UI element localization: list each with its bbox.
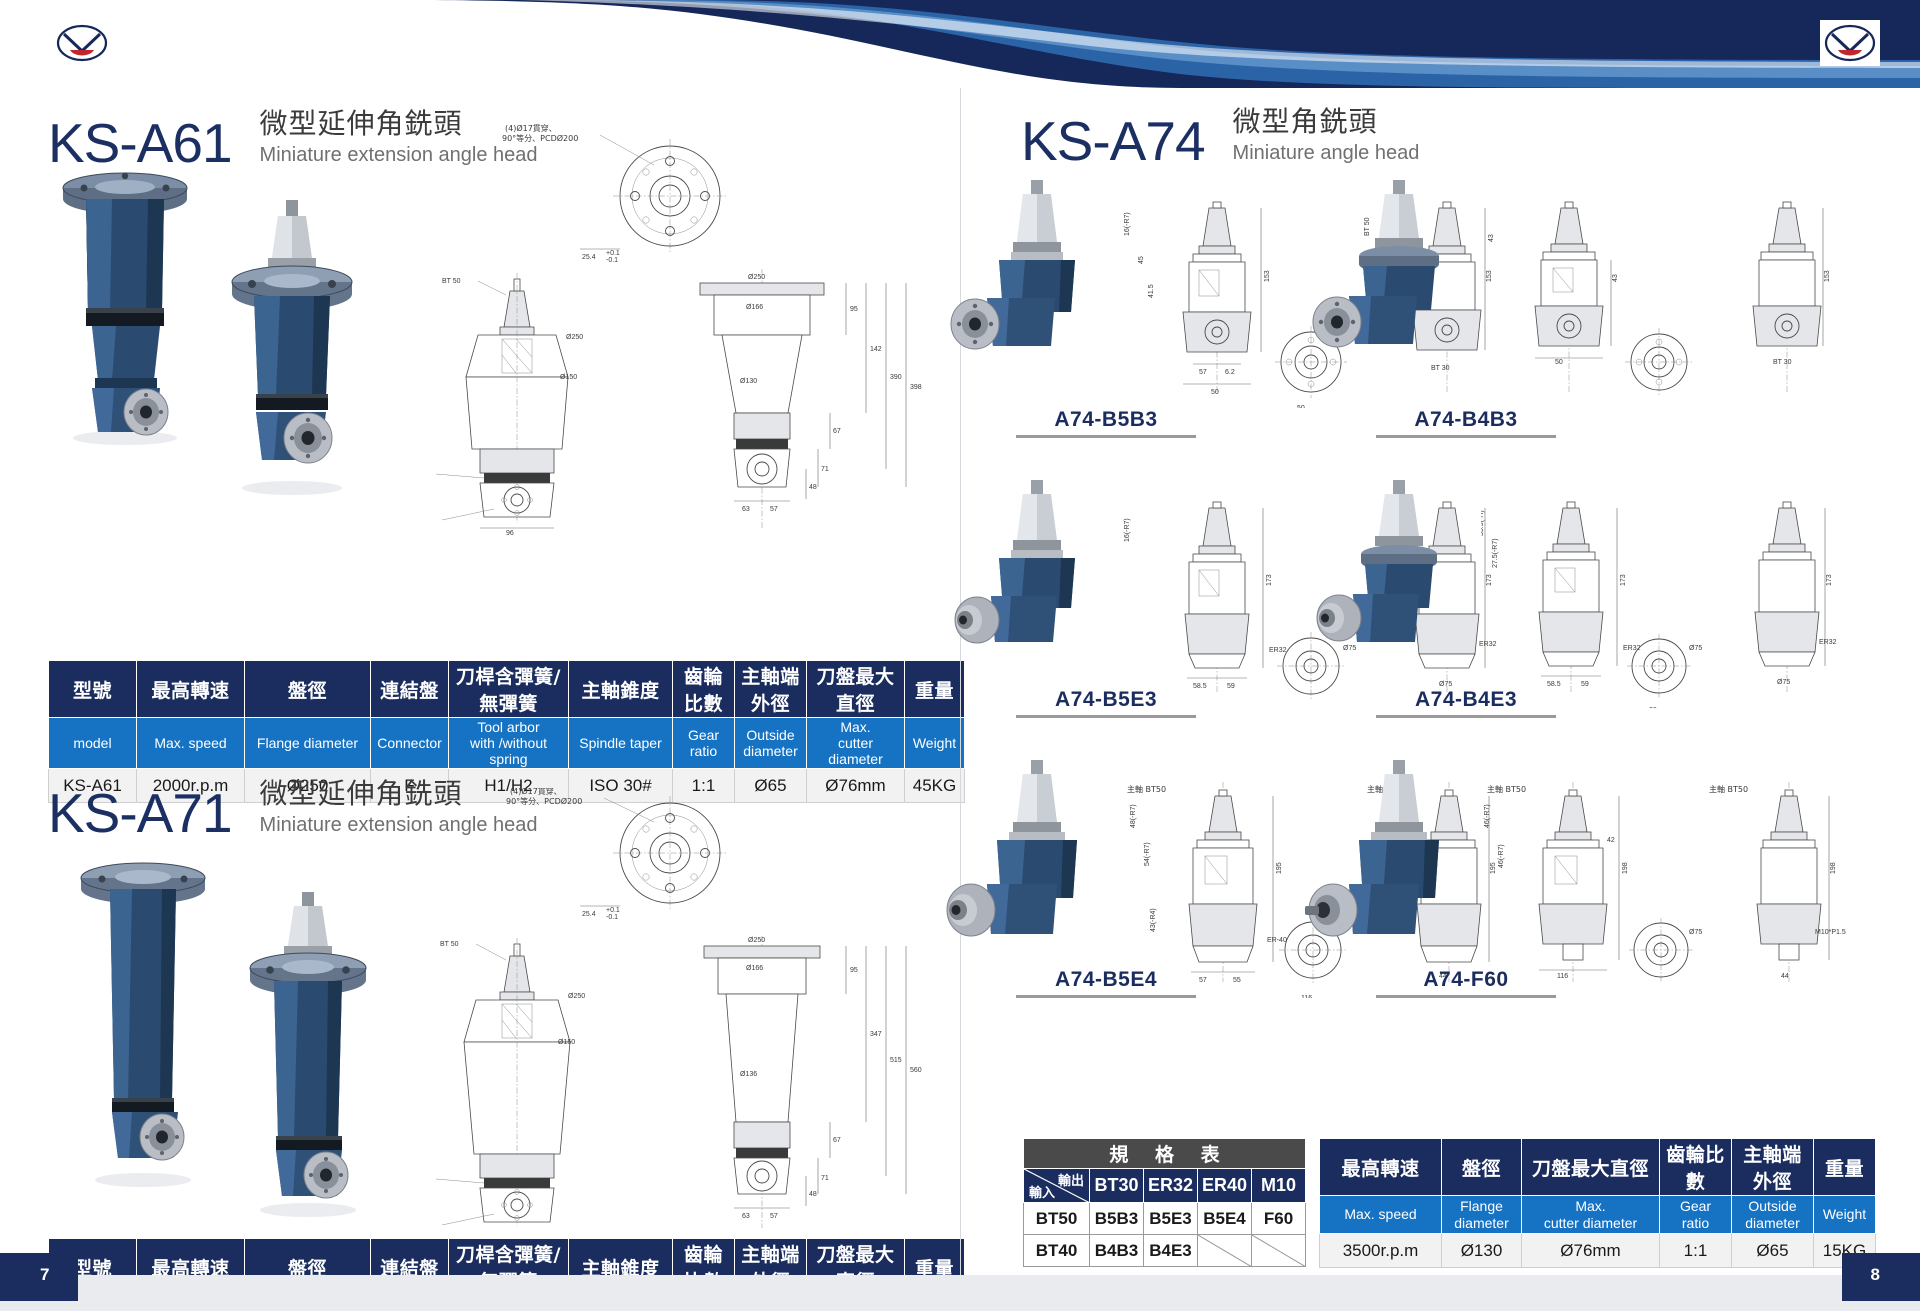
svg-text:Ø150: Ø150 <box>560 374 577 381</box>
matrix-title: 規 格 表 <box>1024 1139 1306 1169</box>
th-en-model: model <box>49 718 137 769</box>
svg-text:96: 96 <box>506 530 514 537</box>
th-en-weight: Weight <box>1814 1196 1876 1234</box>
th-en-gear-ratio: Gear ratio <box>1660 1196 1732 1234</box>
svg-text:173: 173 <box>1826 574 1833 586</box>
product-code: KS-A71 <box>48 786 232 841</box>
svg-text:63: 63 <box>742 506 750 513</box>
svg-text:46(-R7): 46(-R7) <box>1498 844 1505 868</box>
svg-text:198: 198 <box>1830 862 1837 874</box>
svg-text:48: 48 <box>809 1191 817 1198</box>
svg-text:BT 50: BT 50 <box>442 278 461 285</box>
svg-text:560: 560 <box>910 1067 922 1074</box>
product-name-cn: 微型角銑頭 <box>1233 106 1420 138</box>
svg-text:57: 57 <box>770 1213 778 1220</box>
svg-text:-0.1: -0.1 <box>606 914 618 921</box>
right-page: KS-A74 微型角銑頭 Miniature angle head <box>960 88 1920 1311</box>
variant-label-a74-f60: A74-F60 <box>1281 968 1651 998</box>
matrix-header-row: 輸出 輸入 BT30 ER32 ER40 M10 <box>1024 1169 1306 1203</box>
page-number-right: 8 <box>1871 1265 1880 1285</box>
svg-text:43: 43 <box>1488 234 1495 242</box>
svg-text:48(-R7): 48(-R7) <box>1130 804 1137 828</box>
th-cn-model: 型號 <box>49 661 137 718</box>
footer-page-block-right <box>1842 1253 1920 1301</box>
th-cn-flange-diameter: 盤徑 <box>1442 1139 1522 1196</box>
svg-text:57: 57 <box>1199 369 1207 376</box>
svg-text:+0.1: +0.1 <box>606 250 620 257</box>
caption-rule <box>1376 715 1556 718</box>
variant-drawing-a74-f60-side: 主軸 BT50 198 M10*P1.5 44 <box>1701 778 1891 998</box>
th-en-max-speed: Max. speed <box>137 718 245 769</box>
caption-rule <box>1016 435 1196 438</box>
svg-text:42: 42 <box>1607 837 1615 844</box>
footer-bar <box>0 1275 1920 1311</box>
matrix-axis-input: 輸入 <box>1029 1182 1055 1201</box>
svg-text:16(-R7): 16(-R7) <box>1124 518 1131 542</box>
svg-text:44: 44 <box>1781 973 1789 980</box>
caption-rule <box>1016 995 1196 998</box>
svg-text:57: 57 <box>770 506 778 513</box>
svg-text:50: 50 <box>1555 359 1563 366</box>
svg-text:45: 45 <box>1138 256 1145 264</box>
svg-text:347: 347 <box>870 1031 882 1038</box>
variant-drawing-a74-b4e3-side: 173 ER32 Ø75 <box>1701 498 1881 708</box>
matrix-row-input: BT50 <box>1024 1203 1090 1235</box>
matrix-axis-corner: 輸出 輸入 <box>1024 1169 1090 1203</box>
spec-matrix-table: 規 格 表 輸出 輸入 BT30 ER32 ER40 M10 BT50 B5B3 <box>1023 1138 1306 1267</box>
svg-text:41.5: 41.5 <box>1148 284 1155 298</box>
th-cn-weight: 重量 <box>1814 1139 1876 1196</box>
variant-label-a74-b5b3: A74-B5B3 <box>921 408 1291 438</box>
product-code: KS-A74 <box>1021 114 1205 169</box>
th-en-max-speed: Max. speed <box>1320 1196 1442 1234</box>
svg-text:95: 95 <box>850 306 858 313</box>
svg-text:Ø250: Ø250 <box>566 334 583 341</box>
caption-rule <box>1016 715 1196 718</box>
svg-text:48: 48 <box>809 484 817 491</box>
th-cn-outside-diameter: 主軸端外徑 <box>1732 1139 1814 1196</box>
svg-text:59: 59 <box>1581 681 1589 688</box>
variant-label-a74-b4b3: A74-B4B3 <box>1281 408 1651 438</box>
th-cn-spindle-taper: 主軸錐度 <box>569 661 673 718</box>
svg-text:Ø250: Ø250 <box>748 937 765 944</box>
th-en-flange-diameter: Flange diameter <box>1442 1196 1522 1234</box>
th-cn-connector: 連結盤 <box>371 661 449 718</box>
table-header-row-cn: 最高轉速 盤徑 刀盤最大直徑 齒輪比數 主軸端外徑 重量 <box>1320 1139 1876 1196</box>
matrix-col-er40: ER40 <box>1198 1169 1252 1203</box>
matrix-cell-f60: F60 <box>1252 1203 1306 1235</box>
svg-text:95: 95 <box>850 967 858 974</box>
catalog-page: KS-A61 微型延伸角銑頭 Miniature extension angle… <box>0 0 1920 1311</box>
svg-text:主軸 BT50: 主軸 BT50 <box>1487 784 1526 794</box>
th-cn-max-cutter-diameter: 刀盤最大直徑 <box>1522 1139 1660 1196</box>
svg-text:50: 50 <box>1211 389 1219 396</box>
table-header-row-en: model Max. speed Flange diameter Connect… <box>49 718 965 769</box>
svg-text:Ø130: Ø130 <box>740 378 757 385</box>
caption-rule <box>1376 995 1556 998</box>
th-en-outside-diameter: Outside diameter <box>1732 1196 1814 1234</box>
matrix-cell-b5e4: B5E4 <box>1198 1203 1252 1235</box>
th-cn-gear-ratio: 齒輪比數 <box>673 661 735 718</box>
th-cn-max-speed: 最高轉速 <box>1320 1139 1442 1196</box>
th-en-tool-arbor: Tool arbor with /without spring <box>449 718 569 769</box>
svg-text:-0.1: -0.1 <box>606 257 618 264</box>
svg-text:Ø166: Ø166 <box>746 304 763 311</box>
variant-label-a74-b4e3: A74-B4E3 <box>1281 688 1651 718</box>
svg-text:+0.1: +0.1 <box>606 907 620 914</box>
svg-text:67: 67 <box>833 1137 841 1144</box>
svg-text:Ø166: Ø166 <box>746 965 763 972</box>
svg-text:46(-R7): 46(-R7) <box>1484 804 1491 828</box>
svg-text:M10*P1.5: M10*P1.5 <box>1815 929 1846 936</box>
svg-text:54(-R7): 54(-R7) <box>1144 842 1151 866</box>
svg-text:515: 515 <box>890 1057 902 1064</box>
variant-drawing-a74-b4b3-side: 153 BT 30 <box>1701 198 1881 408</box>
svg-text:25.4: 25.4 <box>582 254 596 261</box>
svg-text:58.5: 58.5 <box>1547 681 1561 688</box>
matrix-col-m10: M10 <box>1252 1169 1306 1203</box>
svg-text:71: 71 <box>821 1175 829 1182</box>
svg-text:90°等分、PCDØ200: 90°等分、PCDØ200 <box>506 796 582 806</box>
svg-text:Ø75: Ø75 <box>1777 679 1790 686</box>
product-photo-ks-a61-right <box>200 196 380 496</box>
matrix-col-er32: ER32 <box>1144 1169 1198 1203</box>
svg-text:90°等分、PCDØ200: 90°等分、PCDØ200 <box>502 133 578 143</box>
variant-drawing-a74-b4e3: BT40 55.5(-H) 27.5(-R7) 173 58.5 59 ER32 <box>1481 498 1711 708</box>
svg-text:主軸 BT50: 主軸 BT50 <box>1127 784 1166 794</box>
brand-logo-right <box>1820 20 1880 66</box>
table-header-row-en: Max. speed Flange diameter Max. cutter d… <box>1320 1196 1876 1234</box>
th-cn-flange-diameter: 盤徑 <box>245 661 371 718</box>
svg-text:198: 198 <box>1622 862 1629 874</box>
th-en-spindle-taper: Spindle taper <box>569 718 673 769</box>
th-en-flange-diameter: Flange diameter <box>245 718 371 769</box>
product-code: KS-A61 <box>48 116 232 171</box>
product-name-en: Miniature angle head <box>1233 140 1420 166</box>
svg-text:27.5(-R7): 27.5(-R7) <box>1492 538 1499 568</box>
svg-text:BT 50: BT 50 <box>440 941 459 948</box>
variant-drawing-a74-f60: 主軸 BT50 46(-R7) 46(-R7) 198 116 <box>1481 778 1711 998</box>
page-footer: 7 8 <box>0 1253 1920 1311</box>
matrix-title-row: 規 格 表 <box>1024 1139 1306 1169</box>
svg-text:Ø136: Ø136 <box>740 1071 757 1078</box>
svg-text:25.4: 25.4 <box>582 911 596 918</box>
product-heading-ks-a74: KS-A74 微型角銑頭 Miniature angle head <box>1021 106 1419 169</box>
table-header-row-cn: 型號 最高轉速 盤徑 連結盤 刀桿含彈簧/無彈簧 主軸錐度 齒輪比數 主軸端外徑… <box>49 661 965 718</box>
matrix-axis-output: 輸出 <box>1058 1170 1084 1189</box>
svg-text:Ø250: Ø250 <box>568 993 585 1000</box>
svg-text:Ø150: Ø150 <box>558 1039 575 1046</box>
product-photo-ks-a71-right <box>216 888 396 1218</box>
product-photo-ks-a71-left <box>58 858 228 1188</box>
matrix-cell-b5e3: B5E3 <box>1144 1203 1198 1235</box>
svg-text:主軸 BT50: 主軸 BT50 <box>1709 784 1748 794</box>
svg-text:67: 67 <box>833 428 841 435</box>
th-en-gear-ratio: Gear ratio <box>673 718 735 769</box>
th-cn-outside-diameter: 主軸端外徑 <box>735 661 807 718</box>
product-photo-ks-a61-left <box>40 166 210 446</box>
spec-table-ks-a74: 最高轉速 盤徑 刀盤最大直徑 齒輪比數 主軸端外徑 重量 Max. speed … <box>1319 1138 1876 1268</box>
svg-text:(4)Ø17貫穿、: (4)Ø17貫穿、 <box>510 788 562 796</box>
brand-logo-left <box>52 20 112 66</box>
th-cn-max-speed: 最高轉速 <box>137 661 245 718</box>
matrix-cell-b5b3: B5B3 <box>1090 1203 1144 1235</box>
svg-text:Ø250: Ø250 <box>748 274 765 281</box>
svg-text:43(-R4): 43(-R4) <box>1150 908 1157 932</box>
svg-text:71: 71 <box>821 466 829 473</box>
svg-text:16(-R7): 16(-R7) <box>1124 212 1131 236</box>
svg-text:173: 173 <box>1620 574 1627 586</box>
th-en-connector: Connector <box>371 718 449 769</box>
th-cn-gear-ratio: 齒輪比數 <box>1660 1139 1732 1196</box>
svg-text:63: 63 <box>742 1213 750 1220</box>
footer-page-block-left <box>0 1253 78 1301</box>
matrix-row-bt50: BT50 B5B3 B5E3 B5E4 F60 <box>1024 1203 1306 1235</box>
svg-text:BT 30: BT 30 <box>1773 359 1792 366</box>
page-number-left: 7 <box>40 1265 49 1285</box>
svg-text:55.5(-H): 55.5(-H) <box>1481 510 1485 536</box>
th-en-outside-diameter: Outside diameter <box>735 718 807 769</box>
caption-rule <box>1376 435 1556 438</box>
matrix-col-bt30: BT30 <box>1090 1169 1144 1203</box>
svg-text:153: 153 <box>1824 270 1831 282</box>
svg-text:43: 43 <box>1612 274 1619 282</box>
svg-text:(4)Ø17貫穿、: (4)Ø17貫穿、 <box>505 123 557 133</box>
th-cn-tool-arbor: 刀桿含彈簧/無彈簧 <box>449 661 569 718</box>
left-page: KS-A61 微型延伸角銑頭 Miniature extension angle… <box>0 88 960 1311</box>
variant-drawing-a74-b4b3: 4.5 43 43 50 <box>1481 198 1711 408</box>
top-banner <box>0 0 1920 88</box>
svg-text:ER32: ER32 <box>1819 639 1837 646</box>
th-en-max-cutter-diameter: Max. cutter diameter <box>1522 1196 1660 1234</box>
